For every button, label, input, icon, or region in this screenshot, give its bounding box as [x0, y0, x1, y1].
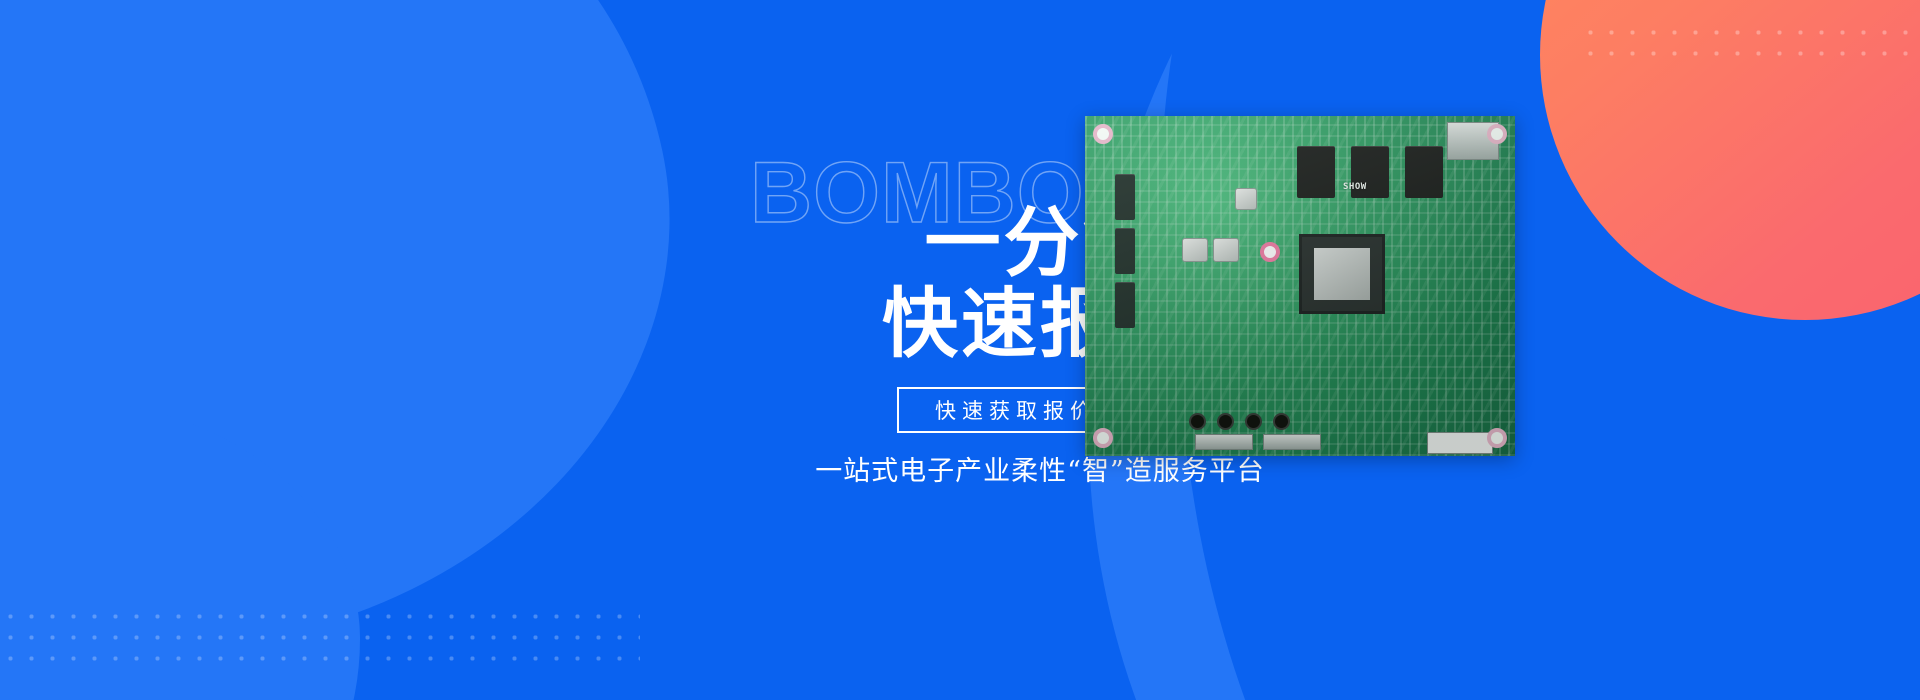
dot-grid-bottom-left [0, 606, 640, 672]
pcb-substrate: SHOW [1085, 116, 1515, 456]
pcb-board-image: SHOW [1085, 116, 1515, 456]
promo-banner: BOMBOM 一分钟 快速报价 快速获取报价信息 一站式电子产业柔性“智”造服务… [0, 0, 1920, 700]
dot-grid-top-right [1580, 22, 1920, 66]
pcb-shading-overlay [1085, 116, 1515, 456]
